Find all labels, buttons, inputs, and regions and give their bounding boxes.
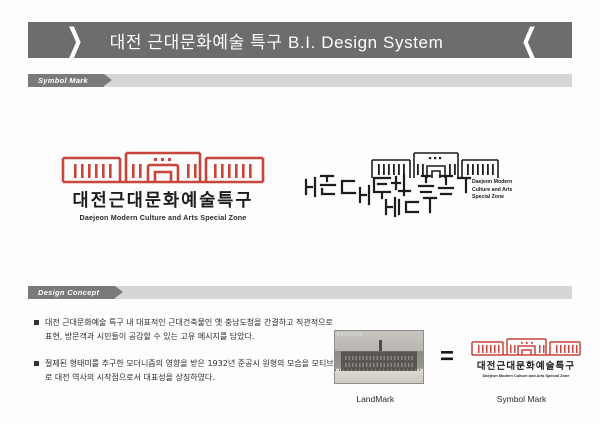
building-outline-icon-mini xyxy=(470,336,582,356)
symbol-mark-label: Symbol Mark xyxy=(469,394,574,404)
photo-ground xyxy=(335,371,423,383)
mini-symbol-mark: 대전근대문화예술특구 Daejeon Modern Culture and Ar… xyxy=(470,336,582,378)
list-item: 절제된 형태미를 추구한 모더니즘의 영향을 받은 1932년 준공시 원형의 … xyxy=(34,357,334,385)
page-title: 대전 근대문화예술 특구 B.I. Design System xyxy=(110,28,444,53)
section-tab: Symbol Mark xyxy=(28,74,104,87)
concept-bullet-text: 대전 근대문화예술 특구 내 대표적인 근대건축물인 옛 충남도청을 간결하고 … xyxy=(45,316,334,344)
section-label-symbol-mark: Symbol Mark xyxy=(38,76,88,85)
landmark-label: LandMark xyxy=(334,394,417,404)
list-item: 대전 근대문화예술 특구 내 대표적인 근대건축물인 옛 충남도청을 간결하고 … xyxy=(34,316,334,344)
equation-labels: LandMark Symbol Mark xyxy=(334,394,574,404)
label-spacer xyxy=(417,394,470,404)
chevron-left-icon: ❮ xyxy=(520,24,538,56)
section-header-design-concept: Design Concept xyxy=(28,286,572,299)
bullet-square-icon xyxy=(34,361,39,366)
mini-logo-korean-text: 대전근대문화예술특구 xyxy=(470,358,582,372)
landmark-photo: 옛 충남도청사 전경 xyxy=(334,330,424,384)
chevron-right-icon: ❯ xyxy=(66,24,84,56)
slide-page: ❯ 대전 근대문화예술 특구 B.I. Design System ❮ Symb… xyxy=(0,0,600,424)
primary-symbol-mark: 대전근대문화예술특구 Daejeon Modern Culture and Ar… xyxy=(60,148,266,222)
concept-bullet-text: 절제된 형태미를 추구한 모더니즘의 영향을 받은 1932년 준공시 원형의 … xyxy=(45,357,334,385)
calligraphic-symbol-mark: Daejeon Modern Culture and Arts Special … xyxy=(300,148,530,218)
section-label-design-concept: Design Concept xyxy=(38,288,99,297)
mini-logo-english-text: Daejeon Modern Culture and Arts Special … xyxy=(470,373,582,378)
section-tab: Design Concept xyxy=(28,286,115,299)
design-concept-list: 대전 근대문화예술 특구 내 대표적인 근대건축물인 옛 충남도청을 간결하고 … xyxy=(34,316,334,398)
bullet-square-icon xyxy=(34,320,39,325)
logo-korean-text: 대전근대문화예술특구 xyxy=(60,187,266,212)
equation-row: 옛 충남도청사 전경 = xyxy=(334,330,574,384)
landmark-equals-symbol-group: 옛 충남도청사 전경 = xyxy=(334,330,574,404)
slide-title-bar: ❯ 대전 근대문화예술 특구 B.I. Design System ❮ xyxy=(28,22,572,58)
photo-caption: 옛 충남도청사 전경 xyxy=(337,332,363,336)
equals-sign: = xyxy=(440,345,454,369)
building-outline-icon xyxy=(60,148,266,184)
logo-english-text-secondary: Daejeon Modern Culture and Arts Special … xyxy=(472,179,530,202)
logo-english-text: Daejeon Modern Culture and Arts Special … xyxy=(60,213,266,222)
section-header-symbol-mark: Symbol Mark xyxy=(28,74,572,87)
